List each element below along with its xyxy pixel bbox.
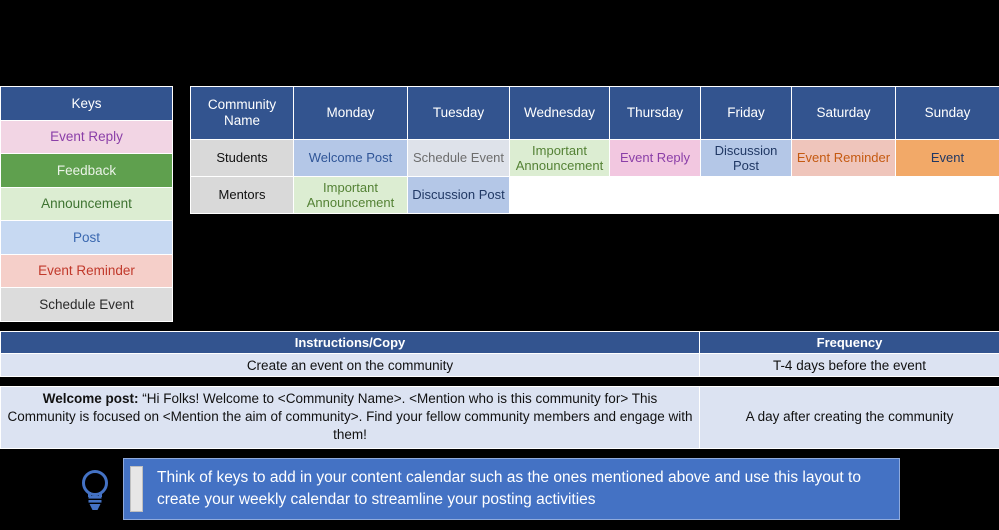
key-announcement[interactable]: Announcement (1, 187, 173, 221)
cell-students-friday[interactable]: Discussion Post (701, 140, 792, 177)
instructions-header-row: Instructions/Copy Frequency (1, 332, 999, 354)
row-label-students: Students (191, 140, 294, 177)
cell-mentors-wednesday[interactable] (510, 177, 610, 214)
column-header-tuesday[interactable]: Tuesday (408, 87, 510, 140)
cell-mentors-tuesday[interactable]: Discussion Post (408, 177, 510, 214)
cell-mentors-thursday[interactable] (610, 177, 701, 214)
cell-students-wednesday[interactable]: Important Announcement (510, 140, 610, 177)
table-row: Welcome post: “Hi Folks! Welcome to <Com… (1, 387, 999, 449)
table-row: Students Welcome Post Schedule Event Imp… (191, 140, 999, 177)
column-header-thursday[interactable]: Thursday (610, 87, 701, 140)
lightbulb-icon (78, 466, 112, 512)
column-header-frequency[interactable]: Frequency (700, 332, 999, 354)
column-header-saturday[interactable]: Saturday (792, 87, 896, 140)
column-header-wednesday[interactable]: Wednesday (510, 87, 610, 140)
cell-frequency-2[interactable]: A day after creating the community (700, 387, 999, 449)
instructions-body: Create an event on the community T-4 day… (1, 354, 999, 377)
cell-students-saturday[interactable]: Event Reminder (792, 140, 896, 177)
instructions-table-secondary: Welcome post: “Hi Folks! Welcome to <Com… (0, 386, 999, 449)
keys-legend-body: Keys Event Reply Feedback Announcement P… (1, 87, 173, 322)
column-header-instructions-copy[interactable]: Instructions/Copy (1, 332, 700, 354)
keys-legend-header-row: Keys (1, 87, 173, 121)
key-post[interactable]: Post (1, 221, 173, 255)
slide-canvas: Keys Event Reply Feedback Announcement P… (0, 0, 999, 530)
weekly-calendar-head: Community Name Monday Tuesday Wednesday … (191, 87, 999, 140)
keys-legend-row[interactable]: Feedback (1, 154, 173, 188)
column-header-community-name[interactable]: Community Name (191, 87, 294, 140)
keys-legend-row[interactable]: Event Reminder (1, 254, 173, 288)
tip-accent-bar (130, 466, 143, 512)
cell-instructions-copy-1[interactable]: Create an event on the community (1, 354, 700, 377)
welcome-post-label: Welcome post: (43, 391, 139, 406)
cell-students-thursday[interactable]: Event Reply (610, 140, 701, 177)
weekly-calendar-table: Community Name Monday Tuesday Wednesday … (190, 86, 999, 214)
key-feedback[interactable]: Feedback (1, 154, 173, 188)
cell-mentors-sunday[interactable] (896, 177, 999, 214)
cell-frequency-1[interactable]: T-4 days before the event (700, 354, 999, 377)
cell-students-tuesday[interactable]: Schedule Event (408, 140, 510, 177)
cell-mentors-monday[interactable]: Important Announcement (294, 177, 408, 214)
keys-legend-row[interactable]: Schedule Event (1, 288, 173, 322)
instructions-secondary-body: Welcome post: “Hi Folks! Welcome to <Com… (1, 387, 999, 449)
keys-legend-row[interactable]: Event Reply (1, 120, 173, 154)
instructions-head: Instructions/Copy Frequency (1, 332, 999, 354)
key-event-reply[interactable]: Event Reply (1, 120, 173, 154)
cell-welcome-post-copy[interactable]: Welcome post: “Hi Folks! Welcome to <Com… (1, 387, 700, 449)
column-header-monday[interactable]: Monday (294, 87, 408, 140)
cell-mentors-friday[interactable] (701, 177, 792, 214)
column-header-friday[interactable]: Friday (701, 87, 792, 140)
keys-legend-row[interactable]: Post (1, 221, 173, 255)
tip-callout: Think of keys to add in your content cal… (78, 455, 900, 523)
key-event-reminder[interactable]: Event Reminder (1, 254, 173, 288)
cell-mentors-saturday[interactable] (792, 177, 896, 214)
tip-box: Think of keys to add in your content cal… (123, 458, 900, 520)
instructions-table-primary: Instructions/Copy Frequency Create an ev… (0, 331, 999, 377)
cell-students-sunday[interactable]: Event (896, 140, 999, 177)
keys-legend-header-cell: Keys (1, 87, 173, 121)
column-header-sunday[interactable]: Sunday (896, 87, 999, 140)
tip-text: Think of keys to add in your content cal… (157, 467, 889, 511)
row-label-mentors: Mentors (191, 177, 294, 214)
key-schedule-event[interactable]: Schedule Event (1, 288, 173, 322)
table-row: Create an event on the community T-4 day… (1, 354, 999, 377)
keys-legend-table: Keys Event Reply Feedback Announcement P… (0, 86, 173, 322)
keys-legend-row[interactable]: Announcement (1, 187, 173, 221)
table-row: Mentors Important Announcement Discussio… (191, 177, 999, 214)
cell-students-monday[interactable]: Welcome Post (294, 140, 408, 177)
weekly-calendar-body: Students Welcome Post Schedule Event Imp… (191, 140, 999, 214)
weekly-calendar-header-row: Community Name Monday Tuesday Wednesday … (191, 87, 999, 140)
